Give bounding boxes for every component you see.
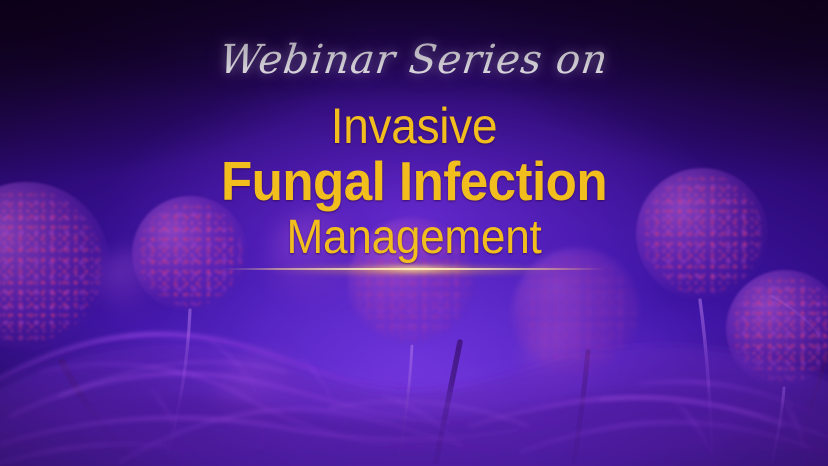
- page-title-line-2: Fungal Infection: [29, 154, 799, 209]
- mycelium-hyphae-mass: [0, 276, 828, 466]
- page-title-line-1: Invasive: [33, 101, 795, 151]
- kicker-text: Webinar Series on: [0, 40, 828, 80]
- page-title-line-3: Management: [33, 214, 795, 262]
- divider-rule: [0, 264, 828, 276]
- webinar-banner: Webinar Series on Invasive Fungal Infect…: [0, 0, 828, 466]
- divider-hotspot: [354, 265, 474, 273]
